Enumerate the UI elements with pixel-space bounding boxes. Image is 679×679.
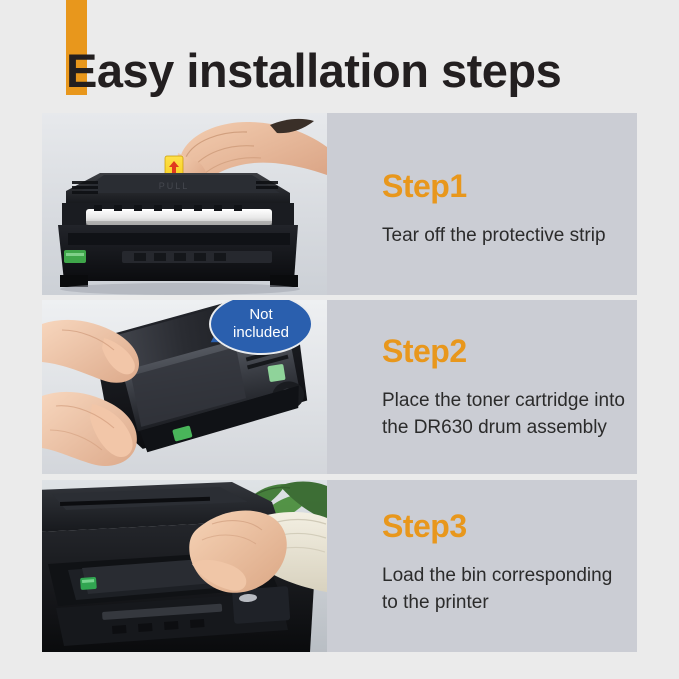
step-panel-2: Not included Step2 Place the toner cartr…: [42, 300, 637, 474]
step-3-label: Step3: [382, 510, 467, 542]
page-title: Easy installation steps: [66, 47, 666, 94]
drum-unit-illustration: PULL: [58, 173, 300, 295]
step-2-description: Place the toner cartridge into the DR630…: [382, 388, 631, 442]
badge-line-1: Not: [249, 306, 272, 324]
step-panel-3: Step3 Load the bin corresponding to the …: [42, 480, 637, 652]
page-header: Easy installation steps: [0, 0, 679, 113]
svg-text:PULL: PULL: [159, 181, 190, 191]
not-included-badge: Not included: [209, 300, 313, 355]
badge-text: Not included: [209, 300, 313, 355]
step-3-photo: [42, 480, 327, 652]
step-2-text-block: Step2 Place the toner cartridge into the…: [339, 300, 637, 474]
step-panel-1: PULL: [42, 113, 637, 295]
badge-line-2: included: [233, 324, 289, 342]
step-1-text-block: Step1 Tear off the protective strip: [339, 113, 637, 295]
step-3-text-block: Step3 Load the bin corresponding to the …: [339, 480, 637, 652]
step-1-photo: PULL: [42, 113, 327, 295]
step-1-description: Tear off the protective strip: [382, 223, 631, 250]
step-3-description: Load the bin corresponding to the printe…: [382, 563, 631, 617]
step-1-label: Step1: [382, 170, 467, 202]
step-2-label: Step2: [382, 335, 467, 367]
